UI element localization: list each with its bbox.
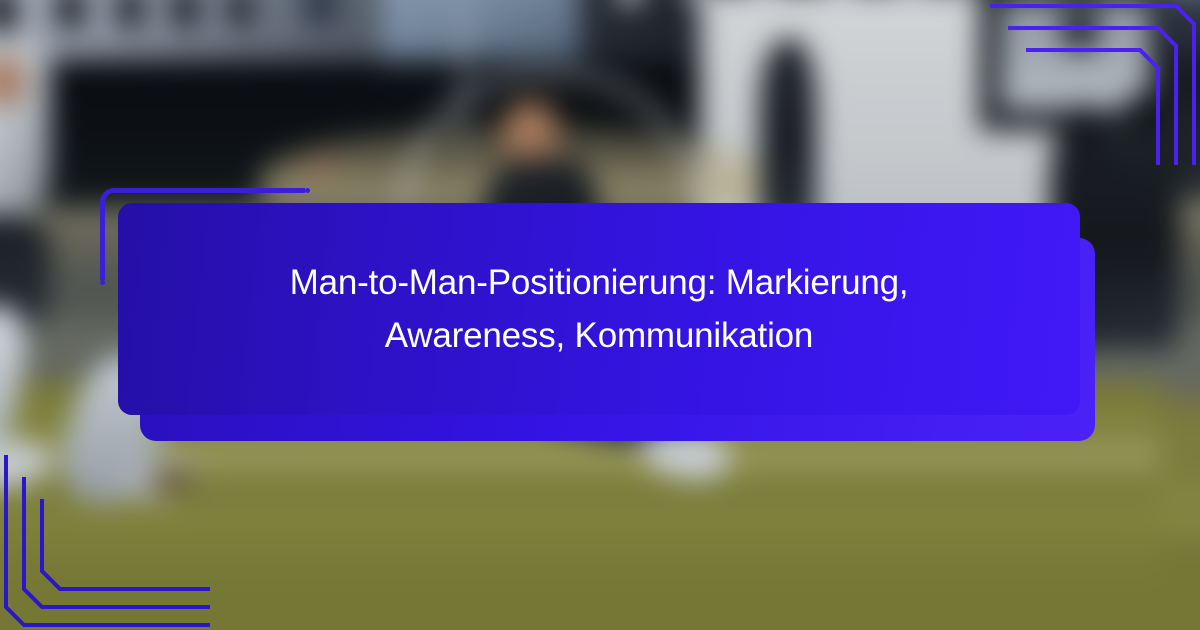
page-title: Man-to-Man-Positionierung: Markierung, A…: [219, 256, 979, 362]
title-card-stack: Man-to-Man-Positionierung: Markierung, A…: [0, 0, 1200, 630]
social-card-canvas: Man-to-Man-Positionierung: Markierung, A…: [0, 0, 1200, 630]
card-front-layer: Man-to-Man-Positionierung: Markierung, A…: [118, 203, 1080, 415]
